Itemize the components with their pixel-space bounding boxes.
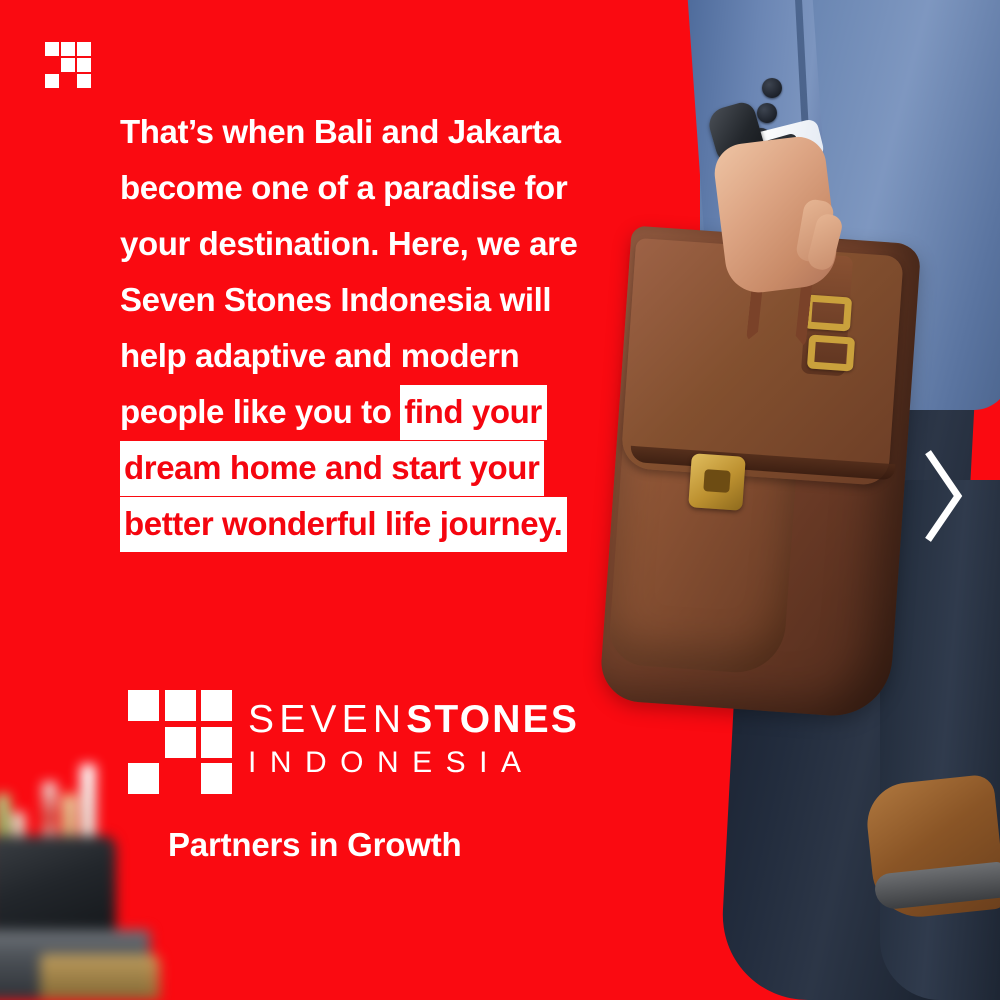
headline-plain: That’s when Bali and Jakarta (120, 113, 561, 150)
headline-plain: Seven Stones Indonesia will (120, 281, 551, 318)
headline-line-2: become one of a paradise for (120, 160, 590, 216)
headline-plain: help adaptive and modern (120, 337, 519, 374)
slide-content: That’s when Bali and Jakarta become one … (0, 0, 1000, 1000)
logo-square (201, 690, 232, 721)
logo-square (45, 74, 59, 88)
headline-highlight: dream home and start your (120, 441, 544, 496)
headline-line-7: dream home and start your (120, 440, 590, 496)
logo-square (165, 690, 196, 721)
logo-square (61, 42, 75, 56)
headline-line-4: Seven Stones Indonesia will (120, 272, 590, 328)
logo-square (128, 690, 159, 721)
logo-subtitle: INDONESIA (248, 744, 579, 782)
logo-square (201, 763, 232, 794)
seven-stones-logo: SEVENSTONES INDONESIA (128, 690, 568, 800)
logo-word-stones: STONES (406, 698, 579, 741)
chevron-right-icon (925, 450, 965, 542)
logo-square (61, 58, 75, 72)
headline-highlight: find your (400, 385, 547, 440)
logo-square (45, 42, 59, 56)
headline-plain: become one of a paradise for (120, 169, 567, 206)
headline-line-1: That’s when Bali and Jakarta (120, 104, 590, 160)
logo-wordmark: SEVENSTONES INDONESIA (248, 696, 579, 782)
promo-slide: That’s when Bali and Jakarta become one … (0, 0, 1000, 1000)
tagline: Partners in Growth (168, 826, 461, 864)
logo-square (165, 727, 196, 758)
logo-name-row: SEVENSTONES (248, 696, 579, 744)
headline-line-8: better wonderful life journey. (120, 496, 590, 552)
headline-highlight: better wonderful life journey. (120, 497, 567, 552)
next-slide-button[interactable] (925, 450, 965, 542)
logo-square (128, 763, 159, 794)
logo-square (77, 74, 91, 88)
headline-line-6: people like you to find your (120, 384, 590, 440)
headline-line-3: your destination. Here, we are (120, 216, 590, 272)
seven-stones-squares-icon (128, 690, 232, 794)
headline-text: That’s when Bali and Jakarta become one … (120, 104, 590, 552)
seven-stones-squares-icon (45, 42, 91, 88)
headline-plain: your destination. Here, we are (120, 225, 577, 262)
logo-word-seven: SEVEN (248, 698, 406, 741)
logo-square (77, 58, 91, 72)
headline-plain: people like you to (120, 393, 400, 430)
headline-line-5: help adaptive and modern (120, 328, 590, 384)
logo-square (201, 727, 232, 758)
logo-square (77, 42, 91, 56)
